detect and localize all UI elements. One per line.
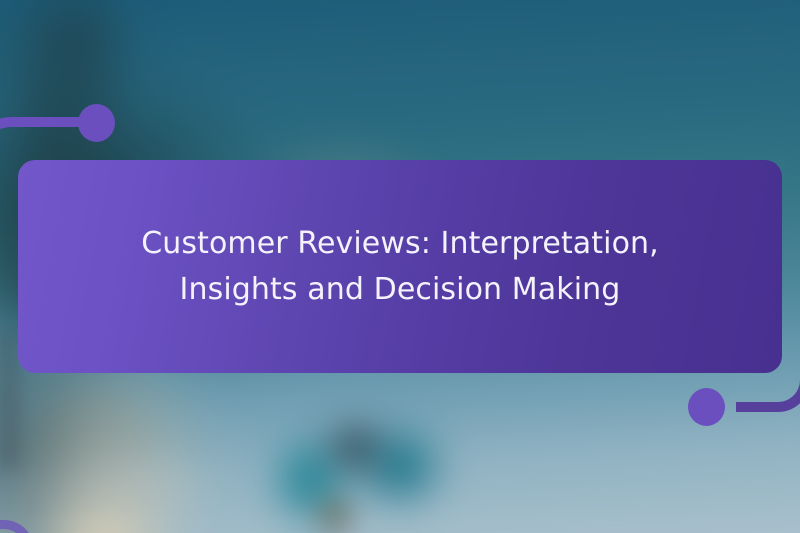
dot-bottom-right-decoration bbox=[688, 388, 725, 426]
hero-banner: Customer Reviews: Interpretation, Insigh… bbox=[0, 0, 800, 533]
dot-top-left-decoration bbox=[78, 104, 115, 142]
page-title: Customer Reviews: Interpretation, Insigh… bbox=[85, 221, 715, 312]
curve-top-left-decoration bbox=[0, 117, 86, 163]
curve-bottom-right-decoration bbox=[736, 380, 800, 412]
title-card: Customer Reviews: Interpretation, Insigh… bbox=[18, 160, 782, 373]
